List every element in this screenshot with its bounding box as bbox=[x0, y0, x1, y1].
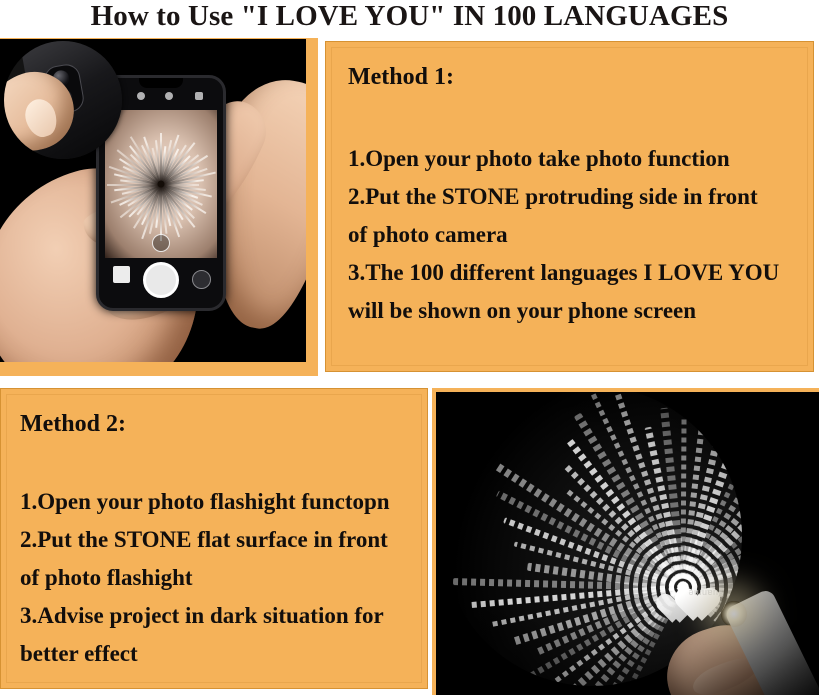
method-2-heading: Method 2: bbox=[20, 409, 407, 439]
focus-ring-icon bbox=[152, 234, 170, 252]
starburst-center-dot bbox=[158, 181, 165, 188]
method-1-step: 3.The 100 different languages I LOVE YOU… bbox=[348, 254, 791, 330]
method-1-box: Method 1: 1.Open your photo take photo f… bbox=[325, 41, 814, 372]
method-2-step-list: 1.Open your photo flashight functopn 2.P… bbox=[20, 483, 407, 673]
method-2-box-inner: Method 2: 1.Open your photo flashight fu… bbox=[6, 394, 422, 683]
filter-icon bbox=[195, 92, 203, 100]
method-2-box: Method 2: 1.Open your photo flashight fu… bbox=[0, 388, 428, 689]
method-2-step: 3.Advise project in dark situation for b… bbox=[20, 597, 407, 673]
phone-notch bbox=[139, 78, 183, 88]
camera-controls bbox=[99, 258, 223, 302]
page-title: How to Use "I LOVE YOU" IN 100 LANGUAGES bbox=[0, 0, 819, 34]
phone-in-hands-illustration bbox=[0, 39, 306, 362]
row-method-1: Method 1: 1.Open your photo take photo f… bbox=[0, 38, 819, 379]
photo-top-left bbox=[0, 39, 306, 362]
shutter-button bbox=[143, 262, 179, 298]
method-2-step: 2.Put the STONE flat surface in front of… bbox=[20, 521, 407, 597]
inset-closeup-circle bbox=[4, 41, 122, 159]
method-1-step: 2.Put the STONE protruding side in front… bbox=[348, 178, 791, 254]
flip-camera-icon bbox=[192, 270, 211, 289]
row-method-2: Method 2: 1.Open your photo flashight fu… bbox=[0, 388, 819, 695]
method-2-step: 1.Open your photo flashight functopn bbox=[20, 483, 407, 521]
timer-icon bbox=[165, 92, 173, 100]
projection-watermark: Yuanme bbox=[688, 588, 724, 598]
method-1-step-list: 1.Open your photo take photo function 2.… bbox=[348, 140, 791, 330]
photo-bottom-right: Yuanme bbox=[436, 392, 819, 695]
photo-frame-bottom-right: Yuanme bbox=[432, 388, 819, 695]
method-1-heading: Method 1: bbox=[348, 62, 791, 92]
flashlight-glow bbox=[721, 601, 747, 627]
method-1-step: 1.Open your photo take photo function bbox=[348, 140, 791, 178]
gallery-thumbnail bbox=[113, 266, 130, 283]
photo-frame-top-left bbox=[0, 38, 318, 376]
method-1-box-inner: Method 1: 1.Open your photo take photo f… bbox=[331, 47, 808, 366]
live-photo-icon bbox=[137, 92, 145, 100]
